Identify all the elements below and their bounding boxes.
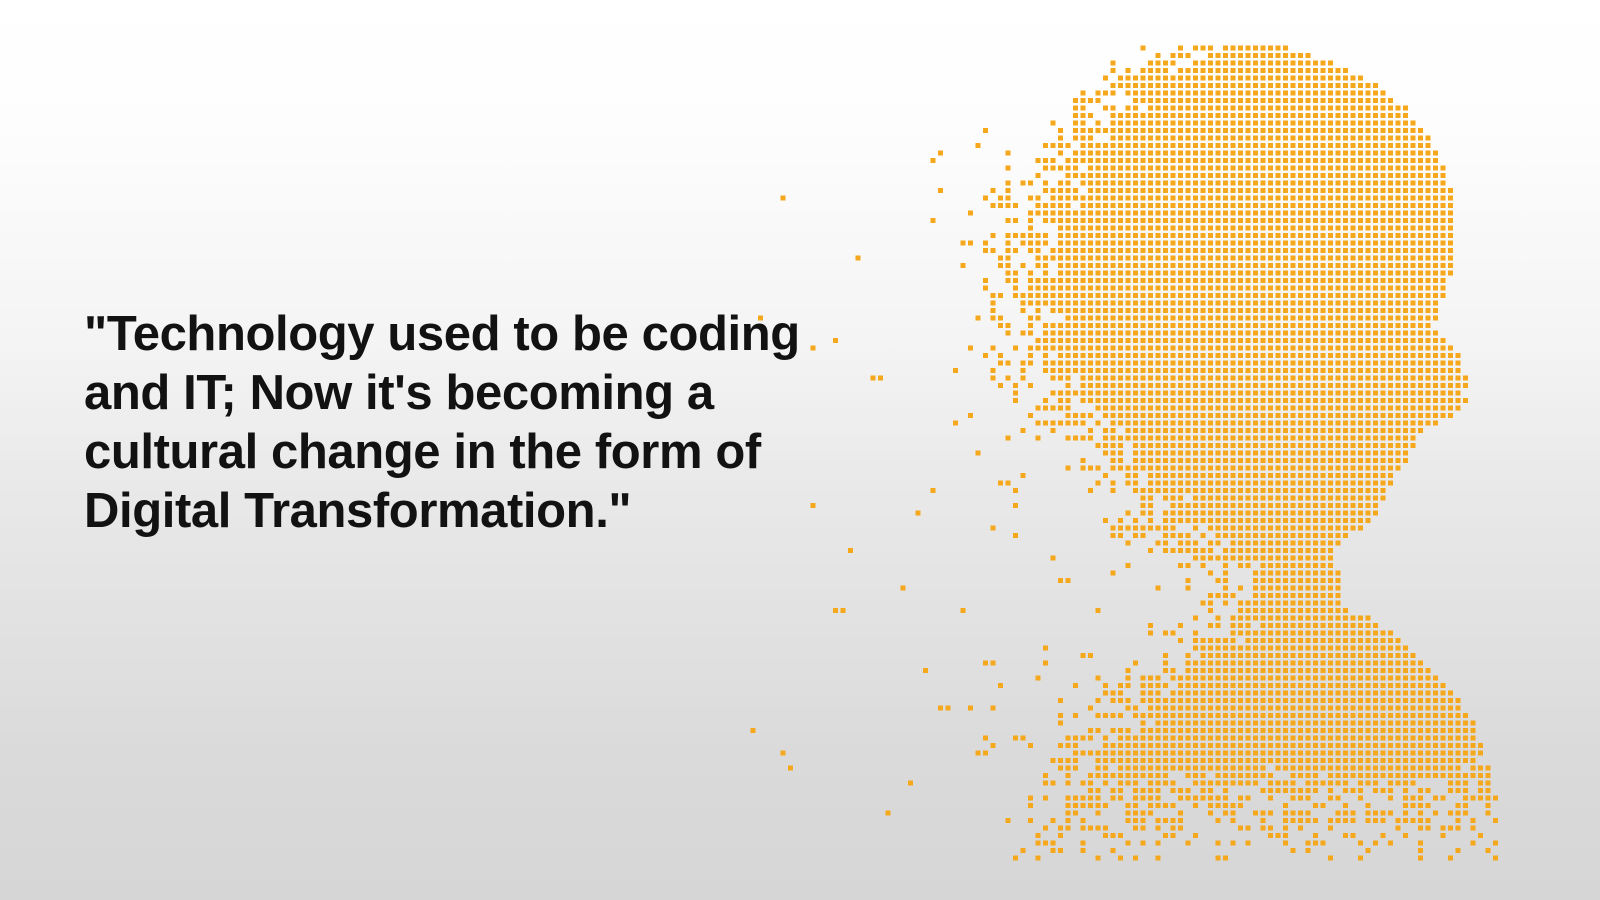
quote-text: "Technology used to be coding and IT; No… <box>84 305 884 541</box>
quote-block: "Technology used to be coding and IT; No… <box>84 305 884 541</box>
slide-canvas: "Technology used to be coding and IT; No… <box>0 0 1600 900</box>
